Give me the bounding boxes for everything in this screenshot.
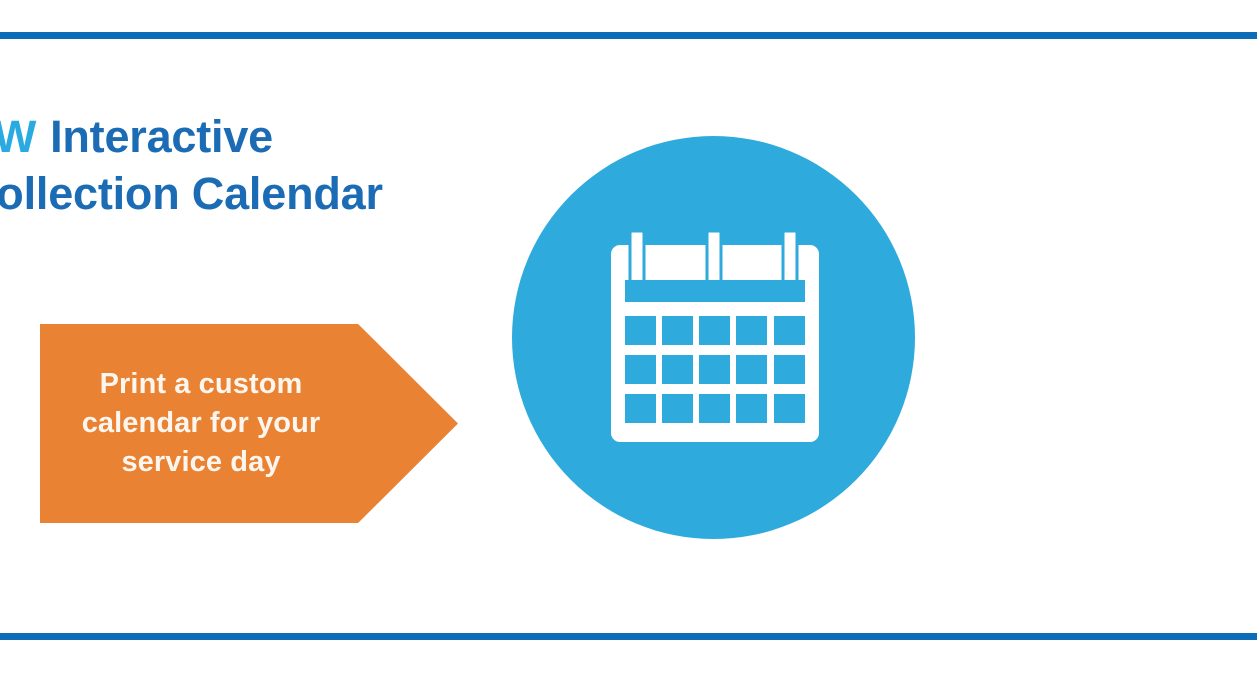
- calendar-grid: [625, 316, 805, 423]
- page-title: EWInteractive Collection Calendar: [0, 108, 484, 222]
- calendar-day-cell: [625, 316, 656, 345]
- callout-line-3: service day: [42, 443, 360, 482]
- headline-line-1: Interactive: [50, 111, 273, 162]
- calendar-day-cell: [662, 355, 693, 384]
- promo-banner-canvas: EWInteractive Collection Calendar Print …: [0, 0, 1260, 675]
- calendar-day-cell: [736, 316, 767, 345]
- calendar-day-cell: [699, 394, 730, 423]
- calendar-icon: [512, 136, 915, 539]
- callout-text: Print a custom calendar for your service…: [42, 365, 360, 482]
- calendar-day-cell: [662, 316, 693, 345]
- calendar-day-cell: [774, 394, 805, 423]
- callout-arrow-banner: Print a custom calendar for your service…: [40, 324, 458, 523]
- headline-kicker: EW: [0, 111, 36, 162]
- headline-line-2: Collection Calendar: [0, 165, 484, 222]
- calendar-day-cell: [774, 355, 805, 384]
- calendar-day-cell: [662, 394, 693, 423]
- calendar-day-cell: [625, 394, 656, 423]
- top-divider: [0, 32, 1257, 39]
- calendar-day-cell: [625, 355, 656, 384]
- calendar-day-cell: [774, 316, 805, 345]
- callout-line-2: calendar for your: [42, 404, 360, 443]
- calendar-badge: [512, 136, 915, 539]
- callout-line-1: Print a custom: [42, 365, 360, 404]
- calendar-day-cell: [699, 316, 730, 345]
- bottom-divider: [0, 633, 1257, 640]
- calendar-day-cell: [736, 394, 767, 423]
- calendar-day-cell: [699, 355, 730, 384]
- calendar-header-bar: [625, 280, 805, 302]
- calendar-day-cell: [736, 355, 767, 384]
